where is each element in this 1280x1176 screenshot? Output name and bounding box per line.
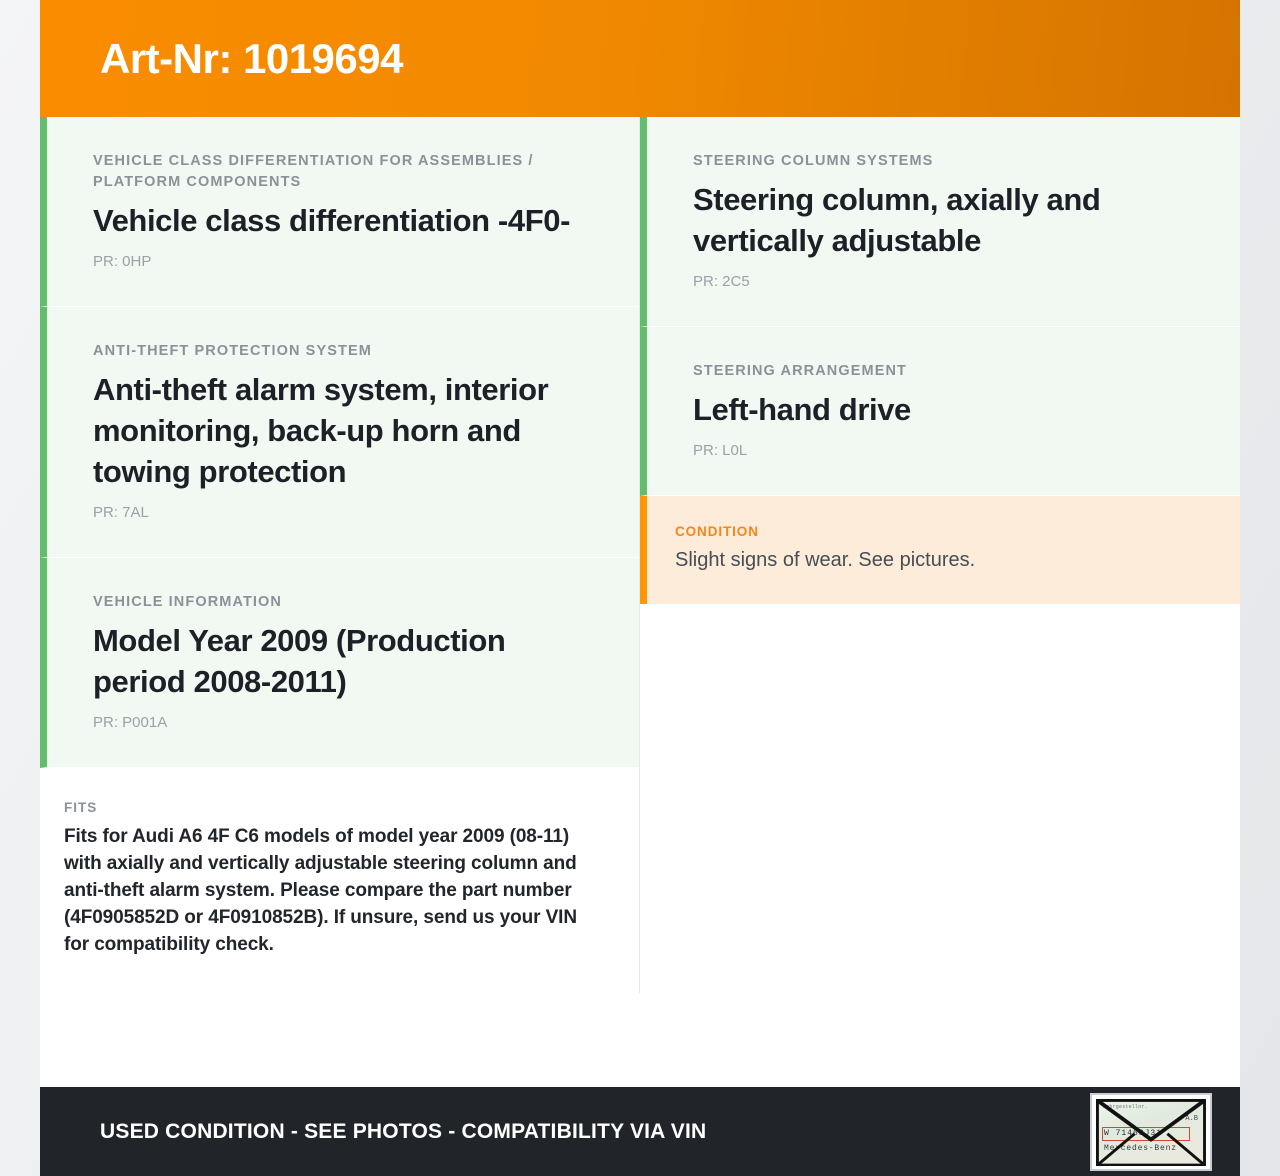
spec-label: Steering column systems <box>693 151 1194 172</box>
spec-value: Anti-theft alarm system, interior monito… <box>93 369 593 493</box>
spec-value: Steering column, axially and vertically … <box>693 179 1194 261</box>
spec-card-anti-theft: Anti-theft protection system Anti-theft … <box>40 307 639 558</box>
fits-section: Fits Fits for Audi A6 4F C6 models of mo… <box>40 768 639 993</box>
right-column: Steering column systems Steering column,… <box>640 117 1240 604</box>
spec-value: Vehicle class differentiation -4F0- <box>93 200 593 241</box>
spec-value: Model Year 2009 (Production period 2008-… <box>93 620 593 702</box>
spec-value: Left-hand drive <box>693 389 1194 430</box>
spec-pr-code: PR: P001A <box>93 713 593 733</box>
part-listing-card: Art-Nr: 1019694 Vehicle class differenti… <box>40 0 1240 1176</box>
vin-document-badge: Fahrgestellnr. A.B W 71463J31 Mercedes-B… <box>1090 1093 1212 1171</box>
condition-card: Condition Slight signs of wear. See pict… <box>640 496 1240 605</box>
specification-grid: Vehicle class differentiation for assemb… <box>40 117 1240 1087</box>
spec-card-vehicle-class: Vehicle class differentiation for assemb… <box>40 117 639 307</box>
spec-pr-code: PR: 7AL <box>93 503 593 523</box>
spec-pr-code: PR: L0L <box>693 441 1194 461</box>
spec-pr-code: PR: 0HP <box>93 252 593 272</box>
spec-pr-code: PR: 2C5 <box>693 272 1194 292</box>
condition-label: Condition <box>675 522 1194 542</box>
footer-bar: USED CONDITION - SEE PHOTOS - COMPATIBIL… <box>40 1087 1240 1176</box>
vehicle-make: Mercedes-Benz <box>1104 1144 1177 1153</box>
page-title: Art-Nr: 1019694 <box>100 38 403 80</box>
spec-card-steering-arrangement: Steering arrangement Left-hand drive PR:… <box>640 327 1240 496</box>
spec-label: Steering arrangement <box>693 361 1194 382</box>
registration-document-image: Fahrgestellnr. A.B W 71463J31 Mercedes-B… <box>1096 1099 1206 1165</box>
fits-label: Fits <box>64 798 593 818</box>
left-column: Vehicle class differentiation for assemb… <box>40 117 640 993</box>
spec-card-vehicle-information: Vehicle information Model Year 2009 (Pro… <box>40 558 639 768</box>
fits-text: Fits for Audi A6 4F C6 models of model y… <box>64 824 593 959</box>
document-heading: Fahrgestellnr. <box>1103 1104 1148 1110</box>
spec-label: Anti-theft protection system <box>93 341 593 362</box>
footer-text: USED CONDITION - SEE PHOTOS - COMPATIBIL… <box>100 1120 706 1144</box>
document-code: A.B <box>1185 1115 1198 1123</box>
spec-card-steering-column: Steering column systems Steering column,… <box>640 117 1240 327</box>
spec-label: Vehicle information <box>93 592 593 613</box>
condition-text: Slight signs of wear. See pictures. <box>675 547 1194 574</box>
spec-label: Vehicle class differentiation for assemb… <box>93 151 593 193</box>
header-bar: Art-Nr: 1019694 <box>40 0 1240 117</box>
vin-number: W 71463J31 <box>1104 1129 1162 1138</box>
